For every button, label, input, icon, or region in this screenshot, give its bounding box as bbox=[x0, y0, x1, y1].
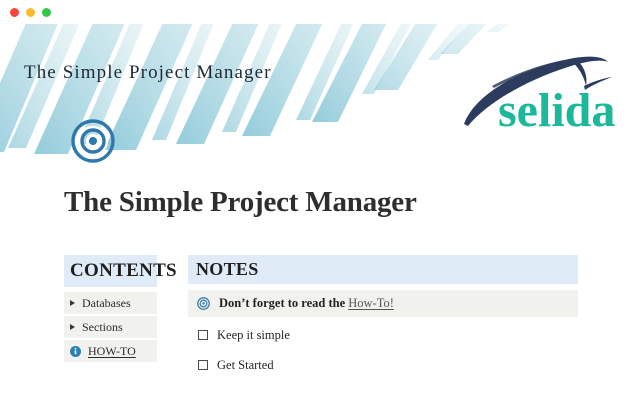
info-circle-icon bbox=[70, 346, 81, 357]
todo-label: Get Started bbox=[217, 358, 274, 373]
target-icon bbox=[197, 297, 210, 310]
target-icon bbox=[71, 119, 115, 163]
contents-sidebar: CONTENTS Databases Sections HOW-TO bbox=[64, 255, 157, 364]
window-chrome bbox=[0, 0, 640, 24]
todo-label: Keep it simple bbox=[217, 328, 290, 343]
selida-logo: selida bbox=[458, 46, 618, 141]
contents-list: Databases Sections HOW-TO bbox=[64, 292, 157, 362]
note-text: Don’t forget to read the How-To! bbox=[219, 296, 394, 311]
hero-banner: The Simple Project Manager selida bbox=[0, 24, 640, 172]
close-button[interactable] bbox=[10, 8, 19, 17]
notes-heading: NOTES bbox=[188, 255, 578, 284]
sidebar-item-how-to[interactable]: HOW-TO bbox=[64, 340, 157, 362]
triangle-right-icon bbox=[70, 324, 75, 330]
triangle-right-icon bbox=[70, 300, 75, 306]
sidebar-item-label: Databases bbox=[82, 296, 131, 311]
maximize-button[interactable] bbox=[42, 8, 51, 17]
sidebar-item-sections[interactable]: Sections bbox=[64, 316, 157, 338]
checkbox[interactable] bbox=[198, 330, 208, 340]
minimize-button[interactable] bbox=[26, 8, 35, 17]
note-row[interactable]: Don’t forget to read the How-To! bbox=[188, 290, 578, 317]
sidebar-item-databases[interactable]: Databases bbox=[64, 292, 157, 314]
sidebar-item-label: HOW-TO bbox=[88, 344, 136, 359]
note-text-body: Don’t forget to read the bbox=[219, 296, 348, 310]
todo-item-keep-it-simple[interactable]: Keep it simple bbox=[188, 323, 578, 347]
notes-panel: NOTES Don’t forget to read the How-To! K… bbox=[188, 255, 578, 377]
checkbox[interactable] bbox=[198, 360, 208, 370]
logo-wordmark: selida bbox=[498, 84, 615, 137]
contents-heading: CONTENTS bbox=[64, 255, 157, 287]
page-title: The Simple Project Manager bbox=[64, 186, 417, 219]
banner-title: The Simple Project Manager bbox=[24, 62, 272, 84]
how-to-link[interactable]: How-To! bbox=[348, 296, 394, 310]
todo-item-get-started[interactable]: Get Started bbox=[188, 353, 578, 377]
sidebar-item-label: Sections bbox=[82, 320, 123, 335]
